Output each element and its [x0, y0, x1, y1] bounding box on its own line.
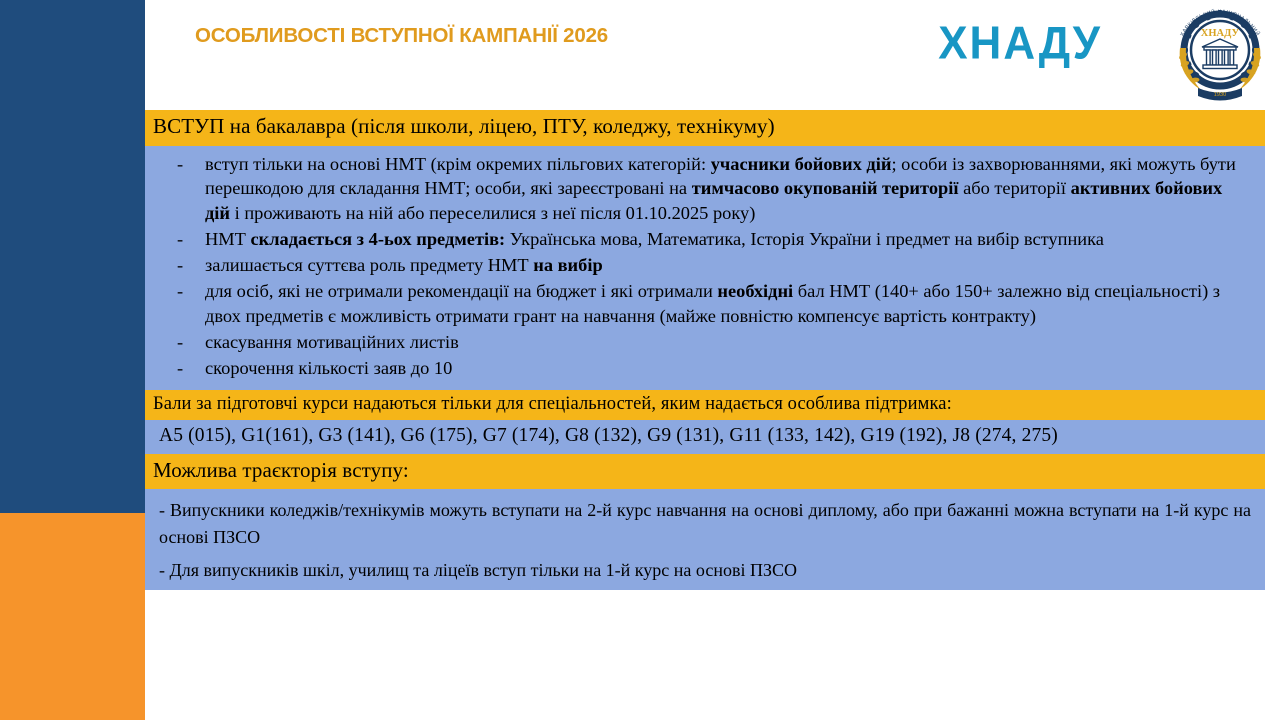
trajectory-paragraphs: - Випускники коледжів/технікумів можуть …	[145, 489, 1265, 590]
left-sidebar	[0, 0, 145, 720]
sidebar-blue-block	[0, 0, 145, 513]
bullet-text: НМТ складається з 4-ьох предметів: Украї…	[205, 229, 1104, 249]
slide-root: ОСОБЛИВОСТІ ВСТУПНОЇ КАМПАНІЇ 2026 ХНАДУ	[0, 0, 1280, 720]
bullet-marker: -	[177, 152, 183, 177]
bachelor-bullet-list: -вступ тільки на основі НМТ (крім окреми…	[159, 152, 1251, 381]
bullet-item: -залишається суттєва роль предмету НМТ н…	[159, 253, 1251, 278]
bullet-text: скорочення кількості заяв до 10	[205, 358, 452, 378]
sidebar-orange-block	[0, 513, 145, 720]
bullet-text: вступ тільки на основі НМТ (крім окремих…	[205, 154, 1236, 224]
bullet-marker: -	[177, 356, 183, 381]
bullet-item: -для осіб, які не отримали рекомендації …	[159, 279, 1251, 329]
bullet-text: залишається суттєва роль предмету НМТ на…	[205, 255, 603, 275]
bullet-item: -скасування мотиваційних листів	[159, 330, 1251, 355]
courses-section-heading: Бали за підготовчі курси надаються тільк…	[145, 390, 1265, 420]
slide-content: ВСТУП на бакалавра (після школи, ліцею, …	[145, 110, 1265, 720]
university-emblem-icon: ХАРКІВСЬКИЙ НАЦІОНАЛЬНИЙ ХНАДУ	[1168, 2, 1272, 106]
specialty-codes-row: A5 (015), G1(161), G3 (141), G6 (175), G…	[145, 420, 1265, 454]
bullet-marker: -	[177, 253, 183, 278]
bachelor-section-heading: ВСТУП на бакалавра (після школи, ліцею, …	[145, 110, 1265, 146]
bullet-marker: -	[177, 330, 183, 355]
bullet-text: для осіб, які не отримали рекомендації н…	[205, 281, 1220, 326]
trajectory-paragraph: - Випускники коледжів/технікумів можуть …	[159, 497, 1251, 551]
bullet-marker: -	[177, 227, 183, 252]
svg-text:ХНАДУ: ХНАДУ	[1201, 28, 1240, 39]
bachelor-bullets-panel: -вступ тільки на основі НМТ (крім окреми…	[145, 146, 1265, 390]
page-title: ОСОБЛИВОСТІ ВСТУПНОЇ КАМПАНІЇ 2026	[195, 24, 608, 48]
bullet-text: скасування мотиваційних листів	[205, 332, 459, 352]
slide-header: ОСОБЛИВОСТІ ВСТУПНОЇ КАМПАНІЇ 2026 ХНАДУ	[145, 0, 1280, 110]
bullet-item: -скорочення кількості заяв до 10	[159, 356, 1251, 381]
emblem-year-text: 1930	[1214, 92, 1226, 98]
trajectory-section-heading: Можлива траєкторія вступу:	[145, 454, 1265, 490]
bullet-item: -НМТ складається з 4-ьох предметів: Укра…	[159, 227, 1251, 252]
brand-wordmark: ХНАДУ	[938, 21, 1102, 67]
trajectory-paragraph: - Для випускників шкіл, училищ та ліцеїв…	[159, 557, 1251, 584]
bullet-item: -вступ тільки на основі НМТ (крім окреми…	[159, 152, 1251, 227]
bullet-marker: -	[177, 279, 183, 304]
